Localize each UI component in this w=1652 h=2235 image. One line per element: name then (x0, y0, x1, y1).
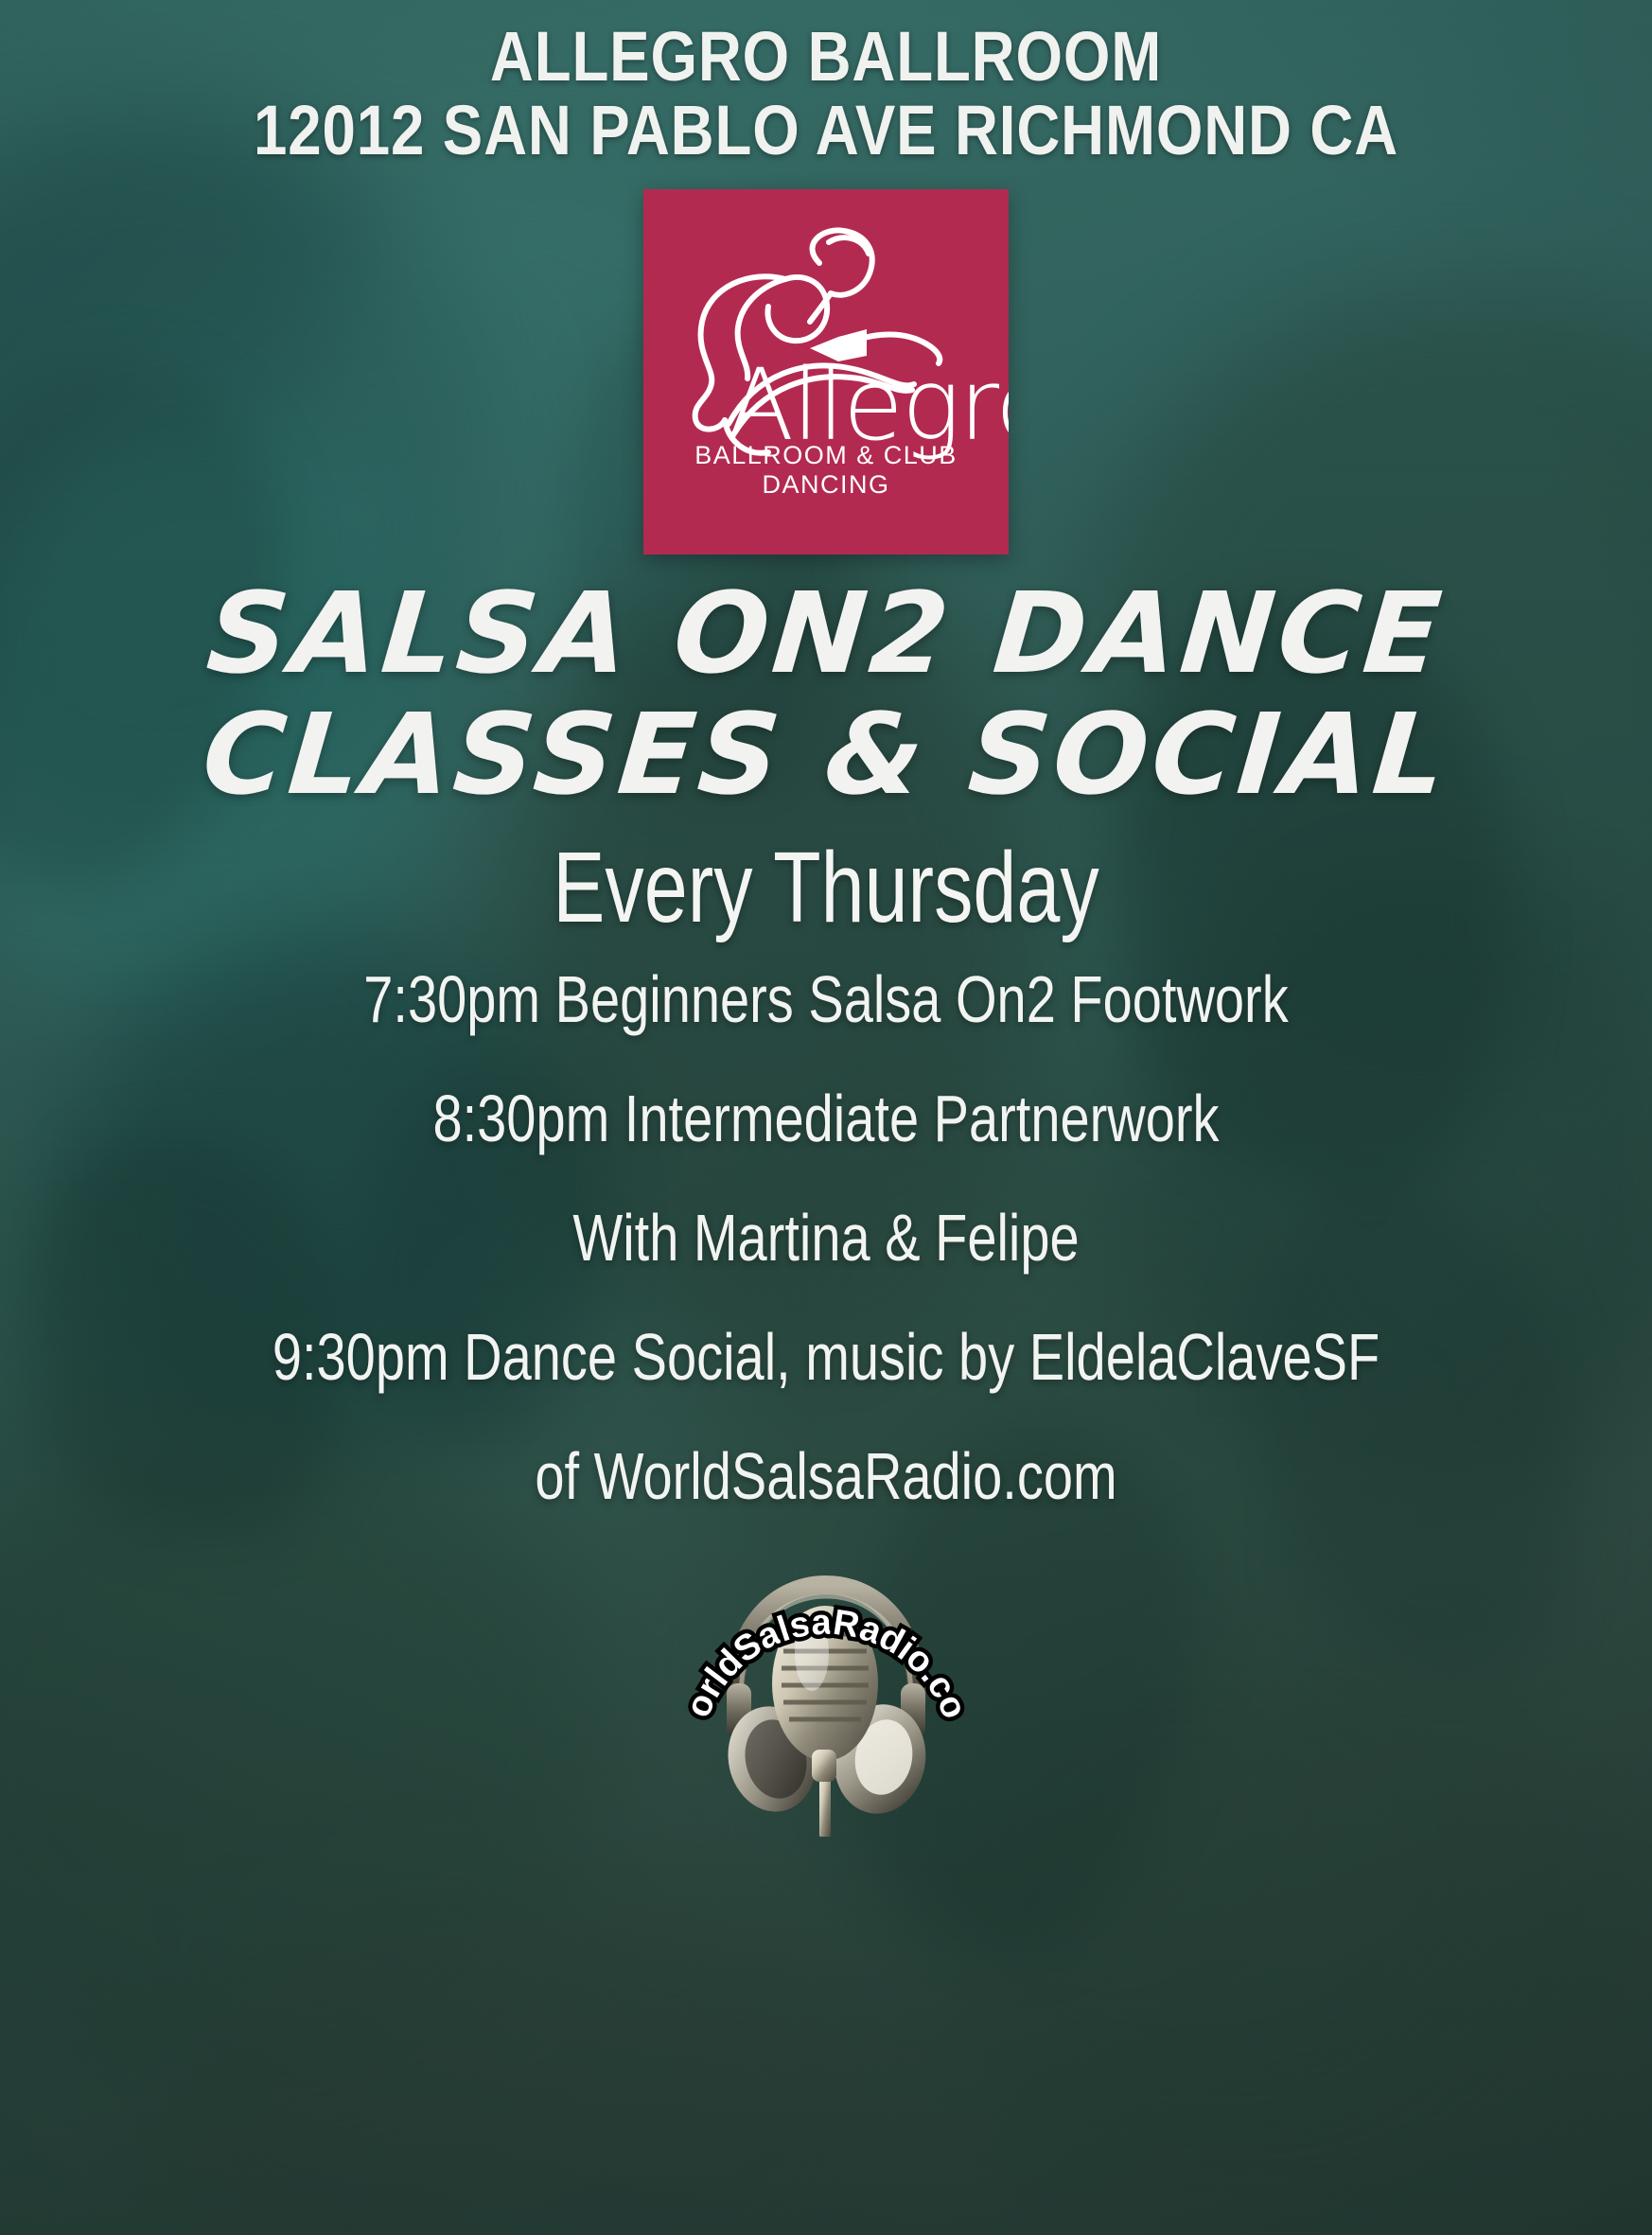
allegro-logo-tagline: BALLROOM & CLUB DANCING (643, 441, 1009, 500)
schedule-item: 8:30pm Intermediate Partnerwork (166, 1085, 1487, 1152)
venue-header: ALLEGRO BALLROOM 12012 SAN PABLO AVE RIC… (0, 0, 1652, 170)
headline-line-2: CLASSES & SOCIAL (0, 695, 1652, 815)
headline: SALSA ON2 DANCE CLASSES & SOCIAL (0, 573, 1652, 815)
schedule-item: With Martina & Felipe (166, 1205, 1487, 1271)
microphone-headphones-icon: WorldSalsaRadio.com (670, 1524, 982, 1837)
venue-name: ALLEGRO BALLROOM (115, 21, 1537, 92)
poster: ALLEGRO BALLROOM 12012 SAN PABLO AVE RIC… (0, 0, 1652, 2235)
schedule-list: 7:30pm Beginners Salsa On2 Footwork 8:30… (0, 966, 1652, 1509)
allegro-logo-wrapper: Allegro BALLROOM & CLUB DANCING (0, 189, 1652, 554)
allegro-logo: Allegro BALLROOM & CLUB DANCING (643, 189, 1009, 554)
schedule-item: 7:30pm Beginners Salsa On2 Footwork (166, 966, 1487, 1032)
venue-address: 12012 SAN PABLO AVE RICHMOND CA (115, 92, 1537, 170)
schedule-item: 9:30pm Dance Social, music by EldelaClav… (166, 1324, 1487, 1390)
poster-content: ALLEGRO BALLROOM 12012 SAN PABLO AVE RIC… (0, 0, 1652, 2235)
headline-line-1: SALSA ON2 DANCE (0, 573, 1652, 694)
worldsalsaradio-logo: WorldSalsaRadio.com (670, 1524, 982, 1837)
radio-logo-wrapper: WorldSalsaRadio.com (0, 1524, 1652, 1837)
allegro-logo-script: Allegro (643, 356, 1009, 454)
schedule-item: of WorldSalsaRadio.com (166, 1443, 1487, 1509)
subtitle-every-thursday: Every Thursday (182, 836, 1470, 941)
